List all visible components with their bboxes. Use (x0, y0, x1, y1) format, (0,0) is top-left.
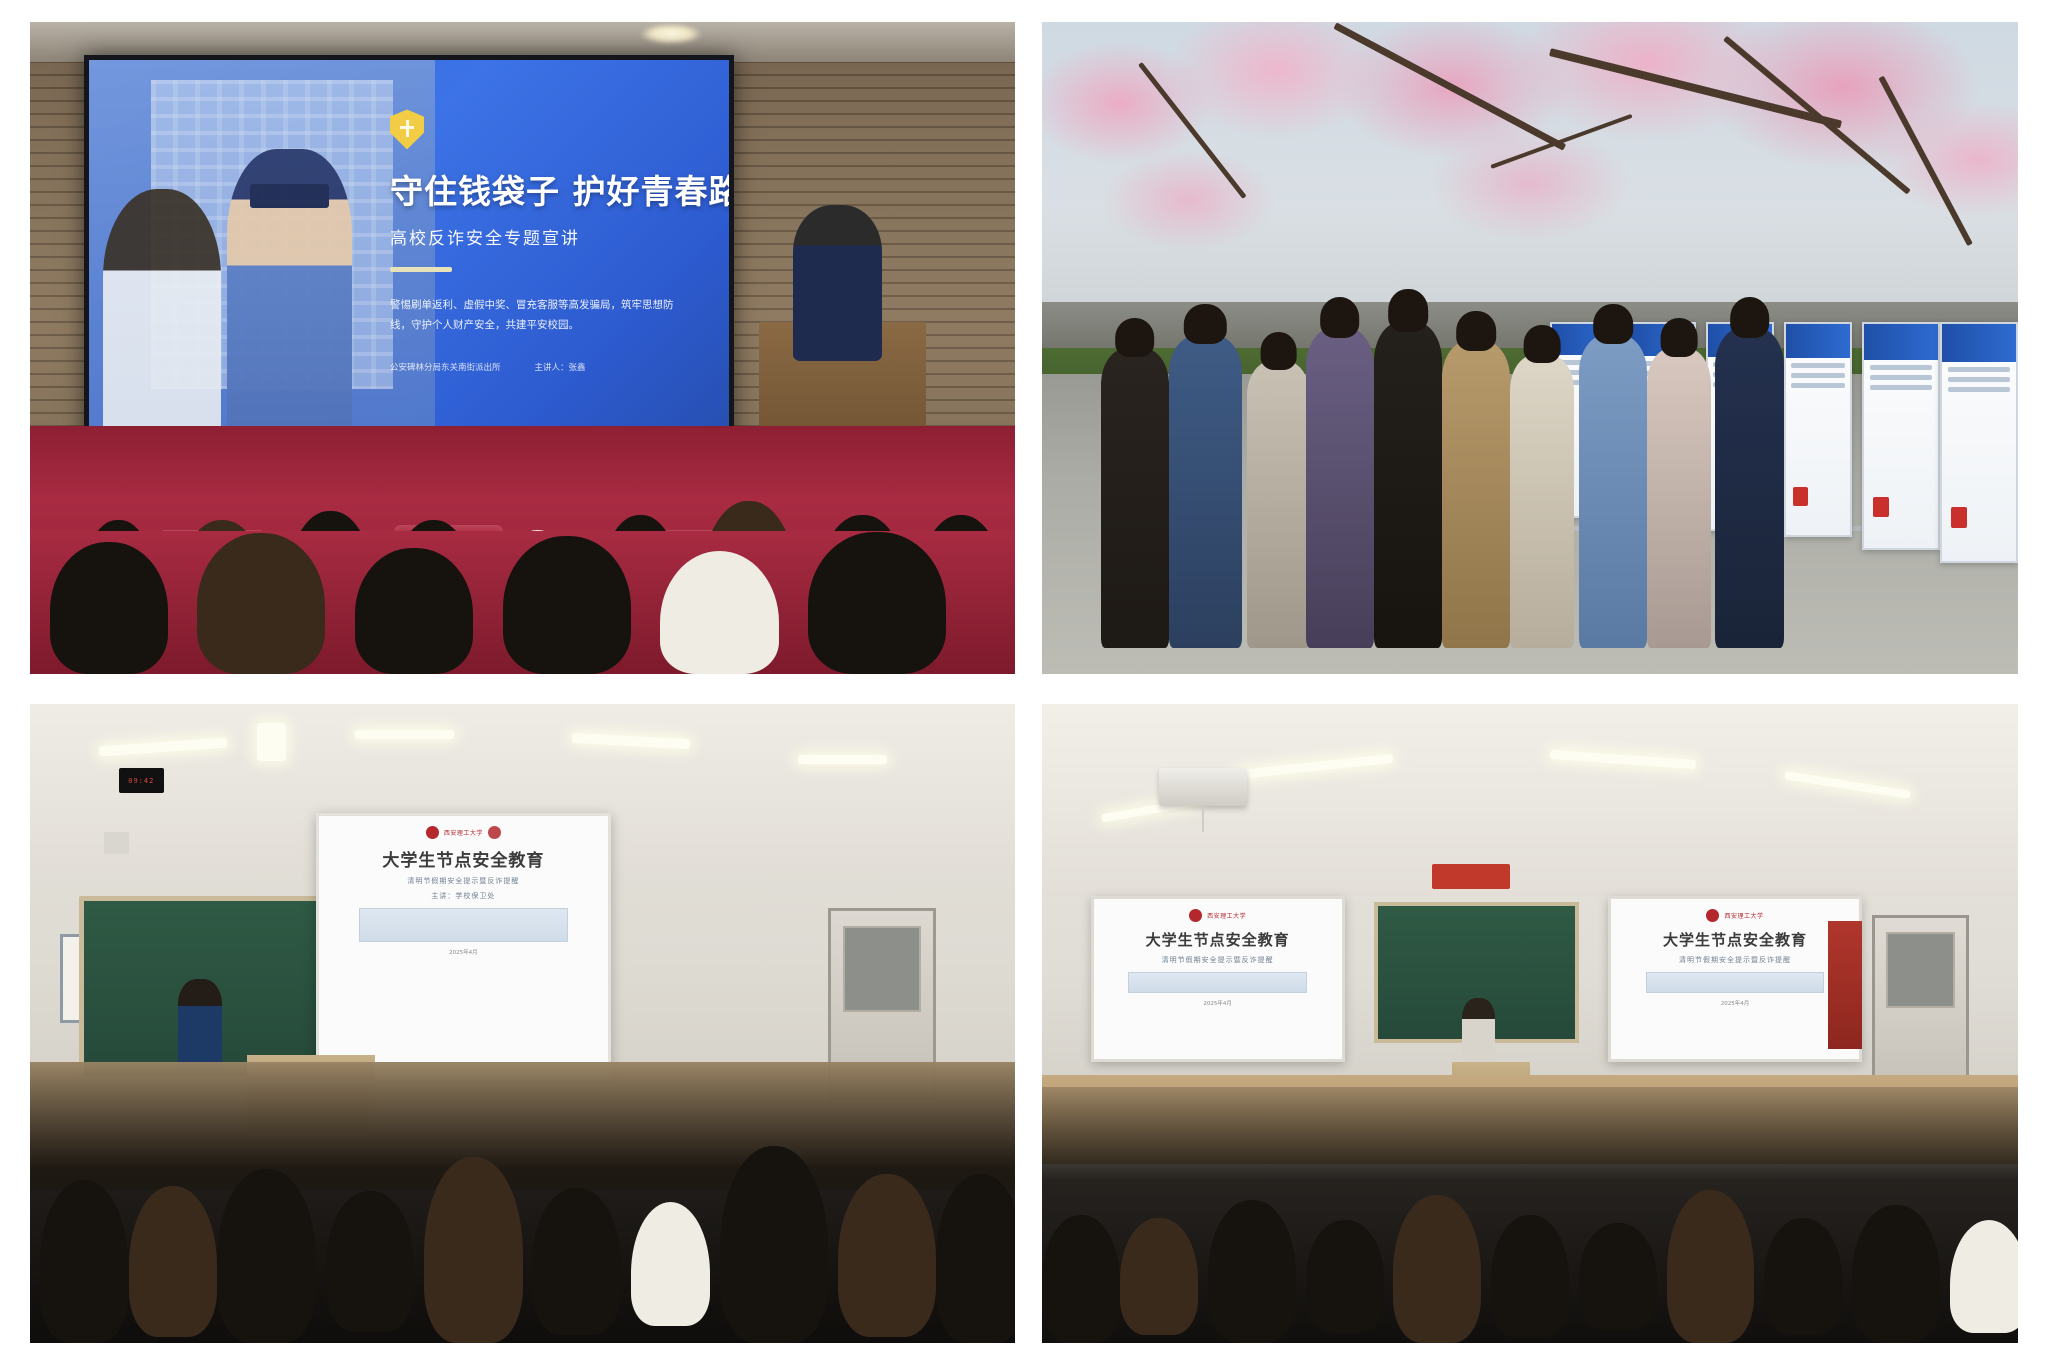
photo-outdoor-boards (1042, 22, 2018, 674)
panel-outdoor-display-boards (1030, 0, 2048, 690)
display-board (1784, 322, 1852, 537)
slide-subtitle: 清明节假期安全提示暨反诈提醒 (1094, 955, 1342, 965)
projection-screen: 西安理工大学 大学生节点安全教育 清明节假期安全提示暨反诈提醒 主讲：学校保卫处… (316, 813, 612, 1081)
ceiling-light (641, 24, 701, 44)
university-logo: 西安理工大学 (1648, 908, 1821, 924)
ceiling-projector (1159, 768, 1247, 806)
slide-body-text: 警惕刷单返利、虚假中奖、冒充客服等高发骗局，筑牢思想防线，守护个人财产安全，共建… (390, 296, 694, 335)
projection-screen-left: 西安理工大学 大学生节点安全教育 清明节假期安全提示暨反诈提醒 2025年4月 (1091, 896, 1345, 1062)
slide-divider (390, 267, 452, 272)
collage-horizontal-gutter (0, 686, 2048, 694)
slide-title: 守住钱袋子 护好青春路 (390, 165, 710, 213)
logo-mark-icon (426, 826, 439, 839)
security-camera (104, 832, 130, 854)
logo-mark-icon (1706, 909, 1719, 922)
exit-sign (1432, 864, 1510, 890)
photo-lecture-hall: 守住钱袋子 护好青春路 高校反诈安全专题宣讲 警惕刷单返利、虚假中奖、冒充客服等… (30, 22, 1015, 674)
slide-meta: 主讲：学校保卫处 (319, 891, 609, 901)
slide-subtitle: 清明节假期安全提示暨反诈提醒 (1611, 955, 1859, 965)
logo-mark-icon (1189, 909, 1202, 922)
slide-title: 大学生节点安全教育 (1094, 929, 1342, 950)
display-board (1940, 322, 2018, 563)
presenter-figure (1462, 998, 1495, 1068)
person-figure (1579, 335, 1647, 648)
slide-footer-organization: 公安碑林分局东关南街派出所 (390, 361, 501, 373)
panel-classroom-lecture: 09:42 西安理工大学 大学生节点安全教育 清明节假期安全提示暨反诈提醒 主讲… (0, 690, 1030, 1365)
shield-icon (390, 109, 424, 149)
person-figure (1374, 322, 1442, 648)
slide-footer: 公安碑林分局东关南街派出所 主讲人：张鑫 (390, 361, 710, 373)
slide-subtitle: 高校反诈安全专题宣讲 (390, 224, 710, 249)
wall-clock: 09:42 (119, 768, 164, 794)
university-name: 西安理工大学 (1724, 911, 1763, 920)
display-board (1862, 322, 1940, 550)
person-figure (1510, 355, 1573, 648)
photo-classroom: 09:42 西安理工大学 大学生节点安全教育 清明节假期安全提示暨反诈提醒 主讲… (30, 704, 1015, 1343)
university-logo: 西安理工大学 (362, 825, 565, 841)
person-figure (1101, 348, 1169, 648)
photo-wide-classroom: 西安理工大学 大学生节点安全教育 清明节假期安全提示暨反诈提醒 2025年4月 … (1042, 704, 2018, 1343)
slide-date: 2025年4月 (1611, 999, 1859, 1007)
person-figure (1169, 335, 1242, 648)
door-window (1886, 932, 1956, 1008)
person-figure (1442, 341, 1510, 647)
classroom-door (1872, 915, 1970, 1094)
projection-screen-right: 西安理工大学 大学生节点安全教育 清明节假期安全提示暨反诈提醒 2025年4月 (1608, 896, 1862, 1062)
logo-mark-secondary-icon (488, 826, 501, 839)
slide-date: 2025年4月 (319, 948, 609, 956)
photo-collage: 守住钱袋子 护好青春路 高校反诈安全专题宣讲 警惕刷单返利、虚假中奖、冒充客服等… (0, 0, 2048, 1365)
slide-title: 大学生节点安全教育 (319, 846, 609, 871)
slide-footer-speaker: 主讲人：张鑫 (535, 361, 586, 373)
slide-subtitle: 清明节假期安全提示暨反诈提醒 (319, 876, 609, 886)
slide-title: 大学生节点安全教育 (1611, 929, 1859, 950)
slide-date: 2025年4月 (1094, 999, 1342, 1007)
person-figure (1306, 328, 1374, 647)
student-audience (1042, 1087, 2018, 1343)
slide-text-block: 守住钱袋子 护好青春路 高校反诈安全专题宣讲 警惕刷单返利、虚假中奖、冒充客服等… (390, 109, 710, 373)
slide-image-strip (1128, 972, 1306, 993)
door-window (843, 926, 921, 1011)
university-name: 西安理工大学 (1207, 911, 1246, 920)
panel-wide-classroom-dual-screens: 西安理工大学 大学生节点安全教育 清明节假期安全提示暨反诈提醒 2025年4月 … (1030, 690, 2048, 1365)
slide-image-strip (1646, 972, 1824, 993)
collage-vertical-gutter (1024, 0, 1030, 1365)
speaker-figure (793, 205, 882, 361)
presenter-figure (178, 979, 222, 1075)
person-figure (1647, 348, 1710, 648)
wall-red-panel (1828, 921, 1862, 1049)
student-audience (30, 1062, 1015, 1343)
slide-image-strip (359, 908, 567, 942)
panel-lecture-hall-antifraud: 守住钱袋子 护好青春路 高校反诈安全专题宣讲 警惕刷单返利、虚假中奖、冒充客服等… (0, 0, 1030, 690)
police-officer-figure (1715, 328, 1783, 647)
university-name: 西安理工大学 (444, 828, 483, 837)
university-logo: 西安理工大学 (1131, 908, 1304, 924)
person-figure (1247, 361, 1310, 648)
